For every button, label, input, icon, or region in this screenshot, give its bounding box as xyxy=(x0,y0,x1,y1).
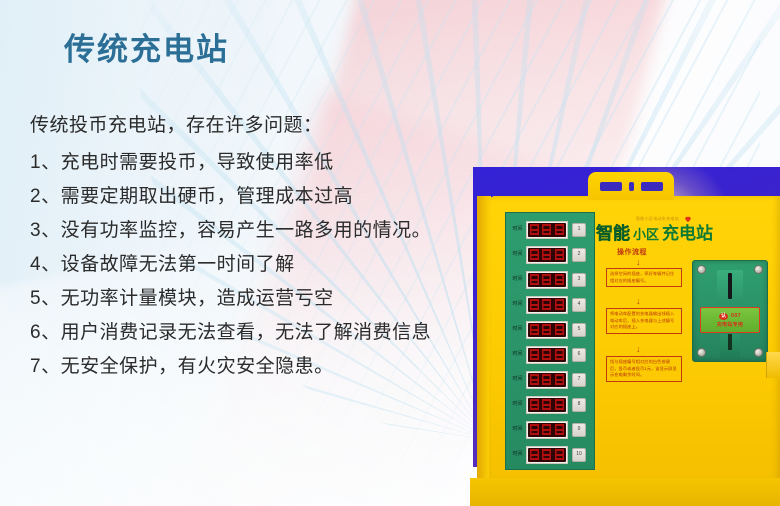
screw-icon xyxy=(754,265,763,274)
socket-button-10[interactable]: 10 xyxy=(572,448,586,462)
led-row-label: 时间 xyxy=(509,227,526,232)
led-digit xyxy=(530,274,539,285)
socket-button-5[interactable]: 5 xyxy=(572,323,586,337)
led-digit xyxy=(555,224,564,235)
device-brand-name: 智能 小区 充电站 xyxy=(596,219,713,244)
led-row-label: 时间 xyxy=(509,252,526,257)
led-digits xyxy=(528,223,566,237)
certification-mark: 认 xyxy=(719,313,728,320)
socket-button-9[interactable]: 9 xyxy=(572,423,586,437)
socket-button-4[interactable]: 4 xyxy=(572,298,586,312)
led-digits xyxy=(528,248,566,262)
led-digit xyxy=(542,374,551,385)
device-top-handle xyxy=(588,172,674,200)
screw-icon xyxy=(697,265,706,274)
led-row-label: 时间 xyxy=(509,302,526,307)
led-row-label: 时间 xyxy=(509,377,526,382)
led-digits xyxy=(528,348,566,362)
led-display xyxy=(526,421,568,439)
led-row: 时间4 xyxy=(509,294,591,315)
flow-step-box-3: 找与插座编号相对应的白色按键后，投币或者投币1元，该显示屏显示充电剩余时间。 xyxy=(606,356,682,382)
handle-slot-left xyxy=(600,182,622,191)
screw-icon xyxy=(754,348,763,357)
heart-icon xyxy=(684,215,692,223)
led-row: 时间3 xyxy=(509,269,591,290)
led-digit xyxy=(542,349,551,360)
socket-button-2[interactable]: 2 xyxy=(572,248,586,262)
coin-acceptor-badge: 认 007 充电站专用 xyxy=(700,307,760,333)
led-digit xyxy=(555,324,564,335)
intro-text: 传统投币充电站，存在许多问题： xyxy=(30,110,323,137)
flow-step-box-1: 选择空闲的插座，停好车辆并记住相对应的插座编号。 xyxy=(606,268,682,287)
slide-canvas: 传统充电站 传统投币充电站，存在许多问题： 1、充电时需要投币，导致使用率低 2… xyxy=(0,0,780,506)
led-digit xyxy=(542,299,551,310)
flow-arrow-3: ↓ xyxy=(636,345,641,354)
led-row-label: 时间 xyxy=(509,277,526,282)
coin-badge-label: 充电站专用 xyxy=(717,321,744,328)
handle-slot-center xyxy=(629,182,634,191)
led-display xyxy=(526,296,568,314)
led-digit xyxy=(555,424,564,435)
led-row-label: 时间 xyxy=(509,452,526,457)
led-digit xyxy=(555,299,564,310)
page-title: 传统充电站 xyxy=(64,31,229,68)
list-item: 3、没有功率监控，容易产生一路多用的情况。 xyxy=(30,214,431,248)
flow-step-text: 找与插座编号相对应的白色按键后，投币或者投币1元，该显示屏显示充电剩余时间。 xyxy=(610,359,678,379)
led-digits xyxy=(528,273,566,287)
led-digits xyxy=(528,298,566,312)
led-row-label: 时间 xyxy=(509,427,526,432)
led-digit xyxy=(530,424,539,435)
led-digit xyxy=(555,399,564,410)
socket-button-7[interactable]: 7 xyxy=(572,373,586,387)
led-row: 时间2 xyxy=(509,244,591,265)
led-digit xyxy=(530,349,539,360)
led-digit xyxy=(530,449,539,460)
led-digit xyxy=(530,299,539,310)
led-digit xyxy=(542,424,551,435)
list-item: 7、无安全保护，有火灾安全隐患。 xyxy=(30,350,431,384)
led-display xyxy=(526,221,568,239)
led-row: 时间7 xyxy=(509,369,591,390)
led-digit xyxy=(530,374,539,385)
flow-arrow-2: ↓ xyxy=(636,297,641,306)
led-digit xyxy=(555,449,564,460)
led-digits xyxy=(528,448,566,462)
socket-button-3[interactable]: 3 xyxy=(572,273,586,287)
led-digit xyxy=(530,249,539,260)
led-row: 时间5 xyxy=(509,319,591,340)
list-item: 5、无功率计量模块，造成运营亏空 xyxy=(30,282,431,316)
led-digit xyxy=(555,374,564,385)
flow-step-box-2: 将电动车配置的充电器输出线插入电动车后，插入充电器与上述编号对应的插座上。 xyxy=(606,308,682,334)
led-row: 时间6 xyxy=(509,344,591,365)
led-digits xyxy=(528,398,566,412)
led-digit xyxy=(530,324,539,335)
led-digit xyxy=(555,274,564,285)
led-display xyxy=(526,246,568,264)
list-item: 2、需要定期取出硬币，管理成本过高 xyxy=(30,180,431,214)
flow-title: 操作流程 xyxy=(617,247,647,257)
led-display xyxy=(526,371,568,389)
led-digits xyxy=(528,423,566,437)
led-digit xyxy=(555,249,564,260)
led-display xyxy=(526,446,568,464)
led-digit xyxy=(542,224,551,235)
led-row: 时间8 xyxy=(509,394,591,415)
led-row-label: 时间 xyxy=(509,327,526,332)
coin-return-chute[interactable] xyxy=(720,334,740,360)
led-digit xyxy=(542,399,551,410)
list-item: 4、设备故障无法第一时间了解 xyxy=(30,248,431,282)
socket-button-8[interactable]: 8 xyxy=(572,398,586,412)
coin-slot[interactable] xyxy=(717,270,743,302)
led-digit xyxy=(542,449,551,460)
brand-word-1: 智能 xyxy=(596,219,630,244)
list-item: 1、充电时需要投币，导致使用率低 xyxy=(30,146,431,180)
led-row: 时间9 xyxy=(509,419,591,440)
led-digit xyxy=(542,324,551,335)
coin-acceptor[interactable]: 认 007 充电站专用 xyxy=(692,260,768,362)
handle-slot-right xyxy=(641,182,663,191)
socket-button-1[interactable]: 1 xyxy=(572,223,586,237)
led-digit xyxy=(542,274,551,285)
device-base xyxy=(470,478,780,506)
led-digit xyxy=(542,249,551,260)
led-row: 时间10 xyxy=(509,444,591,465)
led-digits xyxy=(528,373,566,387)
led-status-panel: 时间1时间2时间3时间4时间5时间6时间7时间8时间9时间10 xyxy=(505,212,595,470)
led-display xyxy=(526,346,568,364)
coin-model-code: 007 xyxy=(731,313,741,319)
led-display xyxy=(526,321,568,339)
led-digit xyxy=(555,349,564,360)
brand-word-2: 小区 xyxy=(633,224,659,243)
issue-list: 1、充电时需要投币，导致使用率低 2、需要定期取出硬币，管理成本过高 3、没有功… xyxy=(30,146,431,384)
flow-arrow-1: ↓ xyxy=(636,258,641,267)
flow-step-text: 将电动车配置的充电器输出线插入电动车后，插入充电器与上述编号对应的插座上。 xyxy=(610,311,678,331)
led-digits xyxy=(528,323,566,337)
led-row: 时间1 xyxy=(509,219,591,240)
flow-step-text: 选择空闲的插座，停好车辆并记住相对应的插座编号。 xyxy=(610,271,678,284)
led-row-label: 时间 xyxy=(509,352,526,357)
led-display xyxy=(526,396,568,414)
led-row-label: 时间 xyxy=(509,402,526,407)
led-digit xyxy=(530,224,539,235)
device-right-notch xyxy=(766,352,780,378)
socket-button-6[interactable]: 6 xyxy=(572,348,586,362)
list-item: 6、用户消费记录无法查看，无法了解消费信息 xyxy=(30,316,431,350)
screw-icon xyxy=(697,348,706,357)
led-digit xyxy=(530,399,539,410)
led-display xyxy=(526,271,568,289)
